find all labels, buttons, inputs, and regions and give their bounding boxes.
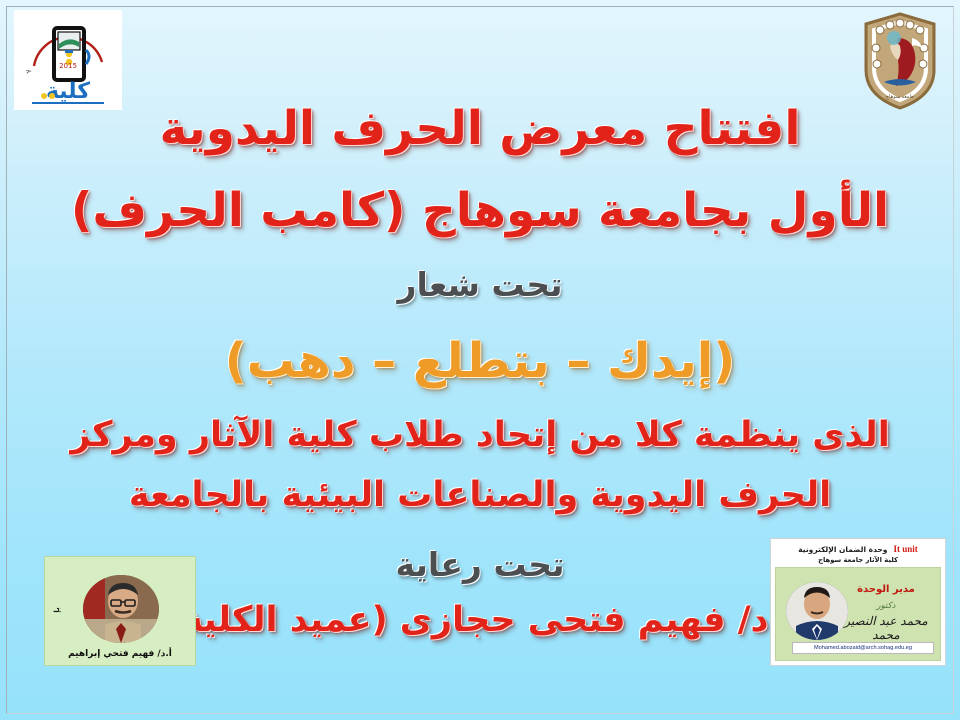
poster-title-line-2: الأول بجامعة سوهاج (كامب الحرف) [0, 186, 960, 235]
it-unit-arabic-label: وحدة الضمان الإلكترونية [798, 545, 887, 554]
it-director-name: محمد عبد النصير محمد [840, 614, 932, 642]
faculty-of-archaeology-logo: Faculty of Archaeology - Sohag Universit… [14, 10, 122, 110]
dean-card-caption: أ.د/ فهيم فتحي إبراهيم [45, 649, 195, 659]
organizer-line-1: الذى ينظمة كلا من إتحاد طلاب كلية الآثار… [0, 417, 960, 454]
dean-card-arc-text: بإشراف على سعادة كلية الآثار جامعة سوهاج [45, 559, 61, 613]
svg-text:كلية: كلية [46, 79, 90, 104]
sohag-university-emblem: جامعة سوهاج [854, 8, 946, 114]
it-director-role: مدير الوحدة [840, 584, 932, 595]
it-card-header: It unit وحدة الضمان الإلكترونية [775, 543, 941, 555]
it-unit-english-label: It unit [893, 544, 917, 554]
organizer-line-2: الحرف اليدوية والصناعات البيئية بالجامعة [0, 477, 960, 514]
svg-text:جامعة سوهاج: جامعة سوهاج [886, 94, 914, 100]
it-unit-card: It unit وحدة الضمان الإلكترونية كلية الآ… [770, 538, 946, 666]
it-director-avatar [786, 582, 848, 640]
it-card-subtitle: كلية الآثار جامعة سوهاج [775, 556, 941, 564]
it-director-doctor-label: دكتور [840, 601, 932, 611]
svg-text:2015: 2015 [59, 62, 77, 70]
it-card-body: مدير الوحدة دكتور محمد عبد النصير محمد M… [775, 567, 941, 661]
slogan-text: (إيدك – بتطلع – دهب) [0, 336, 960, 386]
poster-title-line-1: افتتاح معرض الحرف اليدوية [0, 104, 960, 153]
dean-photo-card: بإشراف على سعادة كلية الآثار جامعة سوهاج… [44, 556, 196, 666]
slogan-label: تحت شعار [0, 268, 960, 303]
it-director-email: Mohamed.abozaid@arch.sohag.edu.eg [792, 642, 934, 654]
svg-text:بإشراف على سعادة كلية الآثار ج: بإشراف على سعادة كلية الآثار جامعة سوهاج [45, 559, 61, 613]
dean-avatar [83, 575, 159, 643]
event-poster: Faculty of Archaeology - Sohag Universit… [0, 0, 960, 720]
